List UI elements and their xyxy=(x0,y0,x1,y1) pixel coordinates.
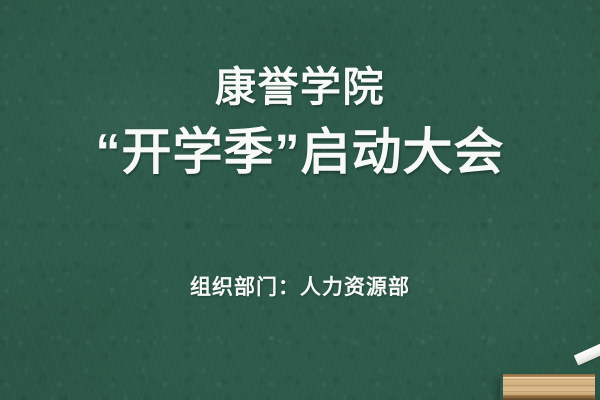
chalkboard-slide: 康誉学院 “开学季”启动大会 组织部门：人力资源部 xyxy=(0,0,600,400)
chalk-tray-bevel xyxy=(503,395,595,400)
slide-title-line-1: 康誉学院 xyxy=(0,64,600,111)
slide-subtitle-organizing-department: 组织部门：人力资源部 xyxy=(0,274,600,301)
chalk-tray xyxy=(503,374,595,400)
slide-title-line-2: “开学季”启动大会 xyxy=(0,122,600,183)
slide-text-block: 康誉学院 “开学季”启动大会 组织部门：人力资源部 xyxy=(0,0,600,400)
chalk-tray-face xyxy=(503,377,595,395)
